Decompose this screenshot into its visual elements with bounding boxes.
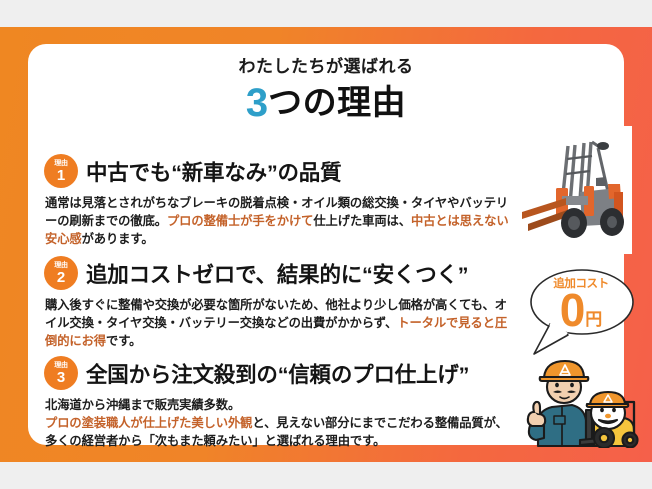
reason-1-body-highlight-1: プロの整備士が手をかけて bbox=[167, 214, 313, 228]
reason-3-body: 北海道から沖縄まで販売実績多数。プロの塗装職人が仕上げた美しい外観と、見えない部… bbox=[45, 396, 515, 451]
reason-3-body-highlight-1: プロの塗装職人が仕上げた美しい外観 bbox=[45, 416, 252, 430]
reason-2-body-plain-2: です。 bbox=[106, 334, 141, 348]
reason-2-title: 追加コストゼロで、結果的に“安くつく” bbox=[86, 258, 468, 289]
reason-3-header: 理由 3 全国から注文殺到の“信頼のプロ仕上げ” bbox=[44, 354, 544, 392]
reason-3-title: 全国から注文殺到の“信頼のプロ仕上げ” bbox=[86, 358, 469, 389]
reason-1-body-plain-3: があります。 bbox=[82, 232, 154, 246]
headline-main-rest: つの理由 bbox=[268, 84, 406, 122]
reason-1-body-plain-2: 仕上げた車両は、 bbox=[313, 214, 411, 228]
worker-and-forklift-mascot-illustration bbox=[520, 356, 642, 448]
speech-bubble-shape bbox=[528, 266, 644, 358]
reason-badge-3-number: 3 bbox=[57, 370, 65, 385]
page-title: わたしたちが選ばれる 3つの理由 bbox=[28, 58, 624, 125]
outer-gradient-frame: わたしたちが選ばれる 3つの理由 理由 1 中古でも“新車なみ”の品質 通常は見… bbox=[0, 27, 652, 462]
headline-number: 3 bbox=[246, 81, 268, 125]
reason-item-1: 理由 1 中古でも“新車なみ”の品質 通常は見落とされがちなブレーキの脱着点検・… bbox=[44, 152, 544, 249]
content-card: わたしたちが選ばれる 3つの理由 理由 1 中古でも“新車なみ”の品質 通常は見… bbox=[28, 44, 624, 445]
reason-1-title: 中古でも“新車なみ”の品質 bbox=[86, 156, 341, 187]
headline-subtitle: わたしたちが選ばれる bbox=[28, 58, 624, 77]
headline-main: 3つの理由 bbox=[28, 81, 624, 126]
additional-cost-speech-bubble: 追加コスト 0 円 bbox=[528, 266, 644, 358]
reason-2-header: 理由 2 追加コストゼロで、結果的に“安くつく” bbox=[44, 254, 544, 292]
reason-1-body: 通常は見落とされがちなブレーキの脱着点検・オイル類の総交換・タイヤやバッテリーの… bbox=[45, 194, 515, 249]
forklift-photo bbox=[522, 126, 632, 254]
reason-badge-1: 理由 1 bbox=[44, 154, 78, 188]
reason-badge-3-label: 理由 bbox=[54, 362, 67, 369]
reason-3-body-plain-1: 北海道から沖縄まで販売実績多数。 bbox=[45, 398, 240, 412]
reason-2-body: 購入後すぐに整備や交換が必要な箇所がないため、他社より少し価格が高くても、オイル… bbox=[45, 296, 515, 351]
reason-item-2: 理由 2 追加コストゼロで、結果的に“安くつく” 購入後すぐに整備や交換が必要な… bbox=[44, 254, 544, 351]
reason-badge-2-number: 2 bbox=[57, 270, 65, 285]
reason-badge-2-label: 理由 bbox=[54, 262, 67, 269]
reason-badge-2: 理由 2 bbox=[44, 256, 78, 290]
reason-badge-1-label: 理由 bbox=[54, 160, 67, 167]
reason-item-3: 理由 3 全国から注文殺到の“信頼のプロ仕上げ” 北海道から沖縄まで販売実績多数… bbox=[44, 354, 544, 451]
reason-badge-3: 理由 3 bbox=[44, 356, 78, 390]
reason-badge-1-number: 1 bbox=[57, 168, 65, 183]
reason-1-header: 理由 1 中古でも“新車なみ”の品質 bbox=[44, 152, 544, 190]
